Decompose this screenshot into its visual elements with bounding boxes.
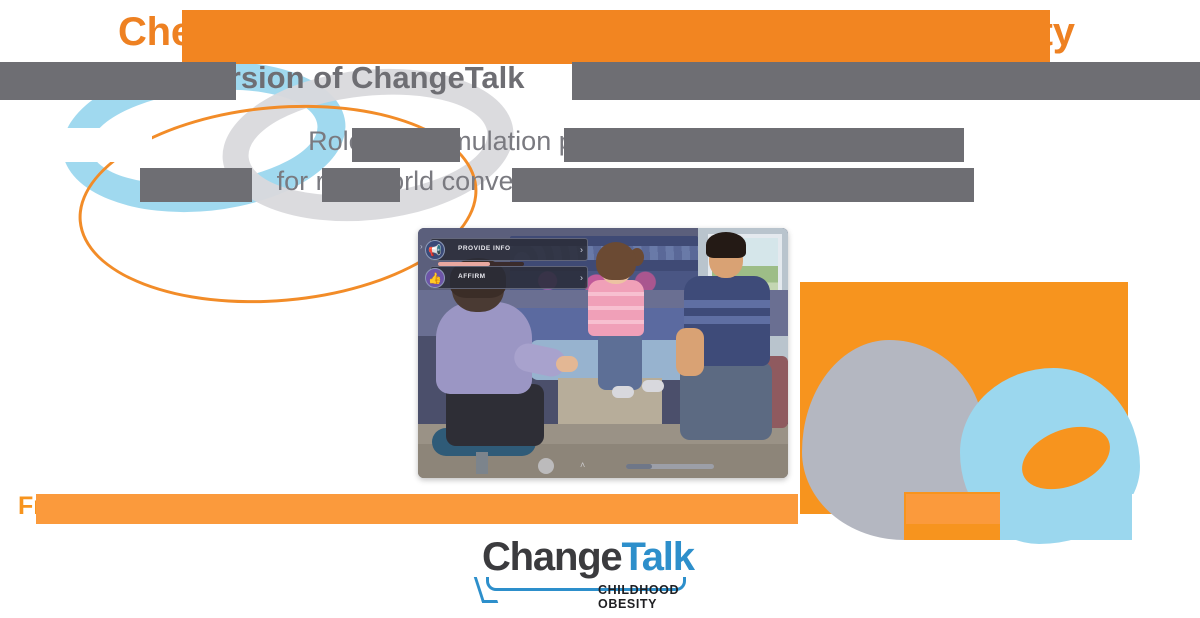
strapline-occlusion-c	[1000, 494, 1132, 524]
child-shoe	[642, 380, 664, 392]
dialogue-option-label: AFFIRM	[458, 274, 486, 281]
body-occlusion-2c	[512, 168, 974, 202]
body-occlusion-2b	[322, 168, 400, 202]
promo-banner: Check Out the New ChangeTalk Childhood O…	[0, 0, 1200, 618]
child-hair	[596, 242, 636, 280]
logo-tagline: CHILDHOOD OBESITY	[598, 583, 720, 611]
dialogue-progress-fill	[438, 262, 490, 266]
dialogue-option-affirm[interactable]: 👍 AFFIRM ›	[430, 266, 588, 289]
hud-meter-fill	[626, 464, 652, 469]
child-legs	[598, 332, 642, 390]
logo-word-change: Change	[482, 535, 621, 579]
dialogue-option-label: PROVIDE INFO	[458, 246, 511, 253]
subtitle: An Updated Version of ChangeTalk	[0, 60, 1200, 102]
clinician-hand	[556, 356, 578, 372]
strapline: Free Online Game to Practice Motivationa…	[0, 492, 1200, 526]
decor-blob-orange-small-icon	[1013, 415, 1119, 501]
game-screenshot[interactable]: › 📢 PROVIDE INFO › 👍 AFFIRM › ˄	[418, 228, 788, 478]
hud-caret-icon[interactable]: ˄	[580, 460, 585, 470]
headline-occlusion	[182, 10, 1050, 64]
body-occlusion-1b	[564, 128, 964, 162]
hud-prev-chevron-icon[interactable]: ›	[420, 242, 423, 251]
body-occlusion-2a	[140, 168, 252, 202]
strapline-occlusion-b	[906, 494, 1000, 524]
chevron-right-icon[interactable]: ›	[580, 245, 583, 254]
parent-hair	[706, 232, 746, 258]
parent-shirt-stripe	[684, 316, 770, 324]
decor-blob-orange-icon	[800, 282, 1128, 514]
child-shirt-stripe	[588, 320, 644, 324]
dialogue-progress-bar	[438, 262, 524, 266]
parent-shirt-stripe	[684, 300, 770, 308]
hud-avatar-icon[interactable]	[538, 458, 554, 474]
clinician-stool-leg	[476, 452, 488, 474]
subtitle-occlusion-left	[0, 62, 236, 100]
strapline-occlusion-d	[1132, 494, 1200, 524]
logo-wordmark: ChangeTalk	[482, 537, 694, 577]
dialogue-option-provide-info[interactable]: 📢 PROVIDE INFO ›	[430, 238, 588, 261]
child-shoe	[612, 386, 634, 398]
strapline-occlusion-a	[36, 494, 798, 524]
thumbs-up-icon: 👍	[425, 268, 445, 288]
child-shirt-stripe	[588, 292, 644, 296]
parent-arm	[676, 328, 704, 376]
changetalk-logo[interactable]: ChangeTalk CHILDHOOD OBESITY	[482, 537, 720, 599]
hud-bottom[interactable]: ˄	[518, 458, 708, 474]
child-shirt-stripe	[588, 306, 644, 310]
logo-word-talk: Talk	[621, 535, 693, 579]
body-copy: Role-play simulation prepares pediatric …	[0, 126, 1200, 212]
body-occlusion-1c	[0, 128, 152, 162]
headline: Check Out the New ChangeTalk Childhood O…	[0, 10, 1200, 62]
hud-meter	[626, 464, 714, 469]
subtitle-occlusion-right	[572, 62, 1200, 100]
megaphone-icon: 📢	[425, 240, 445, 260]
chevron-right-icon[interactable]: ›	[580, 273, 583, 282]
body-occlusion-1a	[352, 128, 460, 162]
